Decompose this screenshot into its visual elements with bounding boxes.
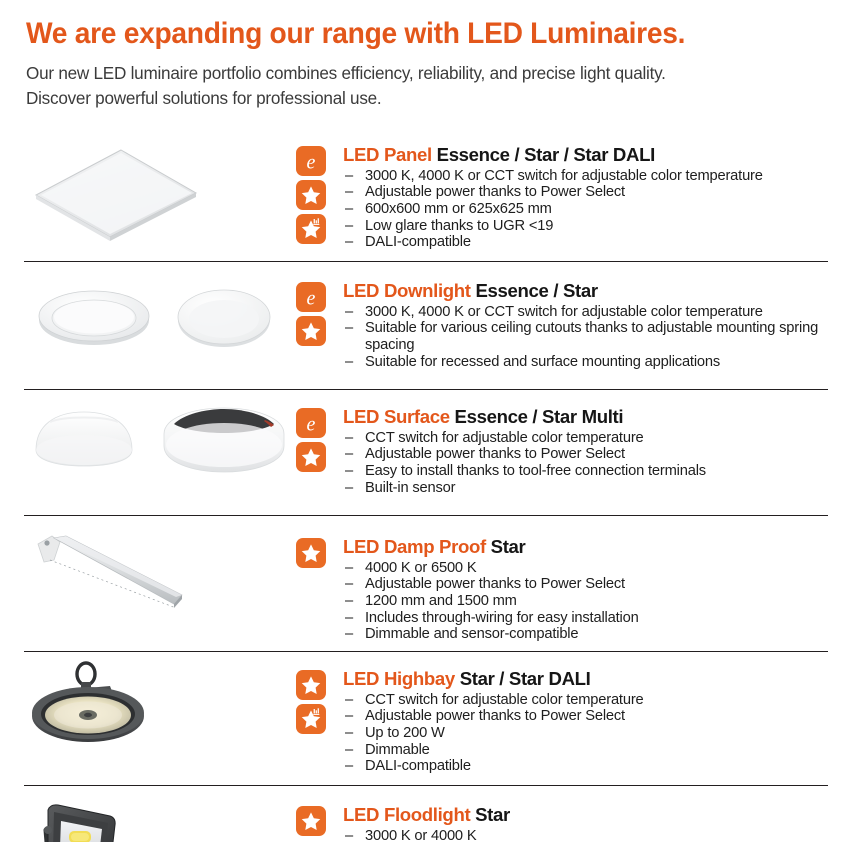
feature-item: –Low glare thanks to UGR <19 xyxy=(343,218,828,235)
feature-item: –Suitable for recessed and surface mount… xyxy=(343,354,828,371)
bullet-dash-icon: – xyxy=(345,234,353,251)
feature-text: Suitable for recessed and surface mounti… xyxy=(365,354,720,370)
led-damp-proof-product-image xyxy=(24,526,296,641)
product-brand: LED Highbay xyxy=(343,668,455,689)
bullet-dash-icon: – xyxy=(345,576,353,593)
header: We are expanding our range with LED Lumi… xyxy=(0,0,852,110)
feature-item: –4000 K or 6500 K xyxy=(343,560,828,577)
product-row-led-downlight[interactable]: eLED Downlight Essence / Star–3000 K, 40… xyxy=(24,261,828,389)
essence-badge-icon: e xyxy=(296,408,326,438)
product-row-led-floodlight[interactable]: LED Floodlight Star–3000 K or 4000 K–Up … xyxy=(24,785,828,842)
product-brand: LED Panel xyxy=(343,144,432,165)
badge-group xyxy=(296,666,343,734)
product-title: LED Panel Essence / Star / Star DALI xyxy=(343,144,828,165)
product-info: LED Damp Proof Star–4000 K or 6500 K–Adj… xyxy=(296,526,828,643)
feature-text: 3000 K or 4000 K xyxy=(365,828,476,842)
subtitle-line-2: Discover powerful solutions for professi… xyxy=(26,86,816,111)
feature-text: 3000 K, 4000 K or CCT switch for adjusta… xyxy=(365,168,763,184)
feature-item: –CCT switch for adjustable color tempera… xyxy=(343,430,828,447)
feature-text: Dimmable xyxy=(365,742,430,758)
feature-item: –CCT switch for adjustable color tempera… xyxy=(343,692,828,709)
feature-text: DALI-compatible xyxy=(365,758,471,774)
product-title: LED Highbay Star / Star DALI xyxy=(343,668,828,689)
feature-list: –3000 K, 4000 K or CCT switch for adjust… xyxy=(343,168,828,252)
essence-badge-icon: e xyxy=(296,146,326,176)
bullet-dash-icon: – xyxy=(345,463,353,480)
product-variant: Essence / Star / Star DALI xyxy=(437,144,655,165)
led-floodlight-image-container xyxy=(24,794,296,842)
product-text: LED Damp Proof Star–4000 K or 6500 K–Adj… xyxy=(343,534,828,643)
bullet-dash-icon: – xyxy=(345,593,353,610)
badge-group: e xyxy=(296,404,343,472)
feature-list: –CCT switch for adjustable color tempera… xyxy=(343,430,828,497)
subtitle-line-1: Our new LED luminaire portfolio combines… xyxy=(26,63,666,83)
led-floodlight-product-image xyxy=(24,794,296,842)
product-row-led-panel[interactable]: eLED Panel Essence / Star / Star DALI–30… xyxy=(24,124,828,261)
product-row-led-damp-proof[interactable]: LED Damp Proof Star–4000 K or 6500 K–Adj… xyxy=(24,515,828,651)
svg-text:e: e xyxy=(307,288,316,310)
feature-item: –DALI-compatible xyxy=(343,758,828,775)
product-title: LED Floodlight Star xyxy=(343,804,828,825)
bullet-dash-icon: – xyxy=(345,480,353,497)
feature-item: –Suitable for various ceiling cutouts th… xyxy=(343,320,828,353)
feature-text: Up to 200 W xyxy=(365,725,445,741)
product-info: eLED Surface Essence / Star Multi–CCT sw… xyxy=(296,396,828,496)
led-highbay-image xyxy=(24,656,296,772)
product-title: LED Damp Proof Star xyxy=(343,536,828,557)
led-damp-proof-image-container xyxy=(24,526,296,641)
product-brand: LED Downlight xyxy=(343,280,471,301)
bullet-dash-icon: – xyxy=(345,692,353,709)
bullet-dash-icon: – xyxy=(345,320,353,337)
product-text: LED Highbay Star / Star DALI–CCT switch … xyxy=(343,666,828,775)
bullet-dash-icon: – xyxy=(345,725,353,742)
product-variant: Essence / Star xyxy=(475,280,597,301)
feature-item: –Dimmable xyxy=(343,742,828,759)
product-variant: Star xyxy=(491,536,526,557)
product-info: eLED Downlight Essence / Star–3000 K, 40… xyxy=(296,270,828,370)
star-badge-icon xyxy=(296,442,326,472)
feature-item: –Includes through-wiring for easy instal… xyxy=(343,610,828,627)
product-info: eLED Panel Essence / Star / Star DALI–30… xyxy=(296,134,828,251)
essence-badge-icon: e xyxy=(296,282,326,312)
product-title: LED Downlight Essence / Star xyxy=(343,280,828,301)
product-info: LED Highbay Star / Star DALI–CCT switch … xyxy=(296,658,828,775)
feature-text: DALI-compatible xyxy=(365,234,471,250)
bullet-dash-icon: – xyxy=(345,626,353,643)
feature-item: –Easy to install thanks to tool-free con… xyxy=(343,463,828,480)
feature-item: –Up to 200 W xyxy=(343,725,828,742)
led-highbay-product-image xyxy=(24,656,296,777)
feature-text: Adjustable power thanks to Power Select xyxy=(365,184,625,200)
bullet-dash-icon: – xyxy=(345,708,353,725)
bullet-dash-icon: – xyxy=(345,218,353,235)
bullet-dash-icon: – xyxy=(345,184,353,201)
badge-group: e xyxy=(296,142,343,244)
bullet-dash-icon: – xyxy=(345,742,353,759)
feature-item: –1200 mm and 1500 mm xyxy=(343,593,828,610)
product-text: LED Floodlight Star–3000 K or 4000 K–Up … xyxy=(343,802,828,842)
feature-text: Dimmable and sensor-compatible xyxy=(365,626,578,642)
feature-list: –3000 K or 4000 K–Up to 10,000 lm–Reliab… xyxy=(343,828,828,842)
svg-text:e: e xyxy=(307,414,316,436)
feature-item: –Dimmable and sensor-compatible xyxy=(343,626,828,643)
star-dali-badge-icon xyxy=(296,214,326,244)
feature-text: CCT switch for adjustable color temperat… xyxy=(365,430,644,446)
feature-text: Low glare thanks to UGR <19 xyxy=(365,218,553,234)
bullet-dash-icon: – xyxy=(345,828,353,842)
led-highbay-image-container xyxy=(24,658,296,777)
product-text: LED Surface Essence / Star Multi–CCT swi… xyxy=(343,404,828,496)
product-title: LED Surface Essence / Star Multi xyxy=(343,406,828,427)
badge-group xyxy=(296,534,343,568)
bullet-dash-icon: – xyxy=(345,560,353,577)
feature-text: 3000 K, 4000 K or CCT switch for adjusta… xyxy=(365,304,763,320)
led-downlight-product-image xyxy=(24,272,296,381)
page-title: We are expanding our range with LED Lumi… xyxy=(26,18,792,50)
feature-text: Easy to install thanks to tool-free conn… xyxy=(365,463,706,479)
led-surface-image xyxy=(24,398,296,502)
product-row-led-surface[interactable]: eLED Surface Essence / Star Multi–CCT sw… xyxy=(24,389,828,515)
feature-item: –Adjustable power thanks to Power Select xyxy=(343,708,828,725)
feature-item: –3000 K, 4000 K or CCT switch for adjust… xyxy=(343,168,828,185)
badge-group xyxy=(296,802,343,836)
product-brand: LED Damp Proof xyxy=(343,536,486,557)
bullet-dash-icon: – xyxy=(345,758,353,775)
page-subtitle: Our new LED luminaire portfolio combines… xyxy=(26,61,816,110)
led-downlight-image-container xyxy=(24,270,296,381)
bullet-dash-icon: – xyxy=(345,610,353,627)
led-panel-image xyxy=(24,140,296,248)
feature-text: Suitable for various ceiling cutouts tha… xyxy=(365,320,818,353)
feature-item: –DALI-compatible xyxy=(343,234,828,251)
product-variant: Star xyxy=(475,804,510,825)
product-brand: LED Floodlight xyxy=(343,804,470,825)
star-dali-badge-icon xyxy=(296,704,326,734)
feature-list: –3000 K, 4000 K or CCT switch for adjust… xyxy=(343,304,828,371)
led-panel-image-container xyxy=(24,134,296,253)
feature-text: Built-in sensor xyxy=(365,480,455,496)
star-badge-icon xyxy=(296,670,326,700)
product-text: LED Panel Essence / Star / Star DALI–300… xyxy=(343,142,828,251)
led-surface-image-container xyxy=(24,396,296,507)
product-info: LED Floodlight Star–3000 K or 4000 K–Up … xyxy=(296,794,828,842)
feature-text: Adjustable power thanks to Power Select xyxy=(365,576,625,592)
product-variant: Star / Star DALI xyxy=(460,668,591,689)
led-downlight-image xyxy=(24,272,296,376)
led-surface-product-image xyxy=(24,398,296,507)
badge-group: e xyxy=(296,278,343,346)
feature-list: –CCT switch for adjustable color tempera… xyxy=(343,692,828,776)
feature-text: CCT switch for adjustable color temperat… xyxy=(365,692,644,708)
led-luminaires-page: We are expanding our range with LED Lumi… xyxy=(0,0,852,842)
feature-text: Adjustable power thanks to Power Select xyxy=(365,708,625,724)
product-text: LED Downlight Essence / Star–3000 K, 400… xyxy=(343,278,828,370)
bullet-dash-icon: – xyxy=(345,168,353,185)
feature-item: –600x600 mm or 625x625 mm xyxy=(343,201,828,218)
led-floodlight-image xyxy=(24,794,296,842)
feature-item: –3000 K, 4000 K or CCT switch for adjust… xyxy=(343,304,828,321)
feature-text: 1200 mm and 1500 mm xyxy=(365,593,517,609)
feature-text: Adjustable power thanks to Power Select xyxy=(365,446,625,462)
feature-list: –4000 K or 6500 K–Adjustable power thank… xyxy=(343,560,828,644)
feature-item: –Built-in sensor xyxy=(343,480,828,497)
bullet-dash-icon: – xyxy=(345,446,353,463)
feature-text: 600x600 mm or 625x625 mm xyxy=(365,201,552,217)
product-list: eLED Panel Essence / Star / Star DALI–30… xyxy=(0,124,852,842)
feature-item: –Adjustable power thanks to Power Select xyxy=(343,446,828,463)
star-badge-icon xyxy=(296,806,326,836)
star-badge-icon xyxy=(296,316,326,346)
feature-item: –Adjustable power thanks to Power Select xyxy=(343,576,828,593)
led-damp-proof-image xyxy=(24,526,296,636)
bullet-dash-icon: – xyxy=(345,201,353,218)
product-variant: Essence / Star Multi xyxy=(455,406,624,427)
bullet-dash-icon: – xyxy=(345,354,353,371)
feature-text: Includes through-wiring for easy install… xyxy=(365,610,639,626)
svg-text:e: e xyxy=(307,152,316,174)
bullet-dash-icon: – xyxy=(345,304,353,321)
feature-item: –Adjustable power thanks to Power Select xyxy=(343,184,828,201)
feature-item: –3000 K or 4000 K xyxy=(343,828,828,842)
star-badge-icon xyxy=(296,180,326,210)
star-badge-icon xyxy=(296,538,326,568)
led-panel-product-image xyxy=(24,140,296,253)
product-brand: LED Surface xyxy=(343,406,450,427)
product-row-led-highbay[interactable]: LED Highbay Star / Star DALI–CCT switch … xyxy=(24,651,828,785)
bullet-dash-icon: – xyxy=(345,430,353,447)
feature-text: 4000 K or 6500 K xyxy=(365,560,476,576)
